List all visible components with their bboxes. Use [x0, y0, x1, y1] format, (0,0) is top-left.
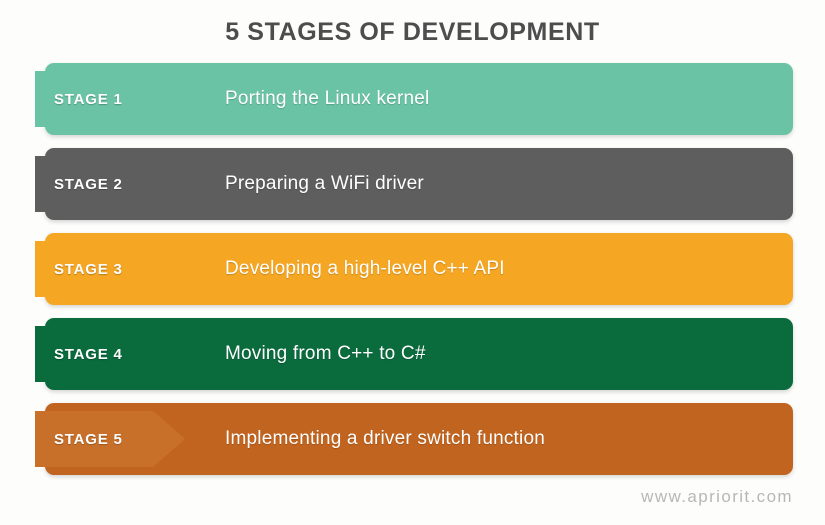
stage-description: Developing a high-level C++ API — [225, 233, 505, 305]
stage-badge-4: STAGE 4 — [35, 326, 185, 382]
stage-description: Porting the Linux kernel — [225, 63, 429, 135]
stage-row: STAGE 1 Porting the Linux kernel — [45, 63, 793, 135]
stage-row: STAGE 2 Preparing a WiFi driver — [45, 148, 793, 220]
stage-label: STAGE 4 — [54, 346, 123, 363]
watermark-url: www.apriorit.com — [641, 487, 793, 507]
stage-label: STAGE 5 — [54, 431, 123, 448]
stage-badge-1: STAGE 1 — [35, 71, 185, 127]
stage-row: STAGE 4 Moving from C++ to C# — [45, 318, 793, 390]
stage-row: STAGE 5 Implementing a driver switch fun… — [45, 403, 793, 475]
page-title: 5 STAGES OF DEVELOPMENT — [0, 18, 825, 47]
stage-description: Implementing a driver switch function — [225, 403, 545, 475]
stage-badge-2: STAGE 2 — [35, 156, 185, 212]
infographic-canvas: 5 STAGES OF DEVELOPMENT STAGE 1 Porting … — [0, 0, 825, 525]
stage-badge-3: STAGE 3 — [35, 241, 185, 297]
stage-description: Moving from C++ to C# — [225, 318, 426, 390]
stage-description: Preparing a WiFi driver — [225, 148, 424, 220]
stage-label: STAGE 2 — [54, 176, 123, 193]
stage-label: STAGE 1 — [54, 91, 123, 108]
stage-row: STAGE 3 Developing a high-level C++ API — [45, 233, 793, 305]
stage-badge-5: STAGE 5 — [35, 411, 185, 467]
stage-label: STAGE 3 — [54, 261, 123, 278]
